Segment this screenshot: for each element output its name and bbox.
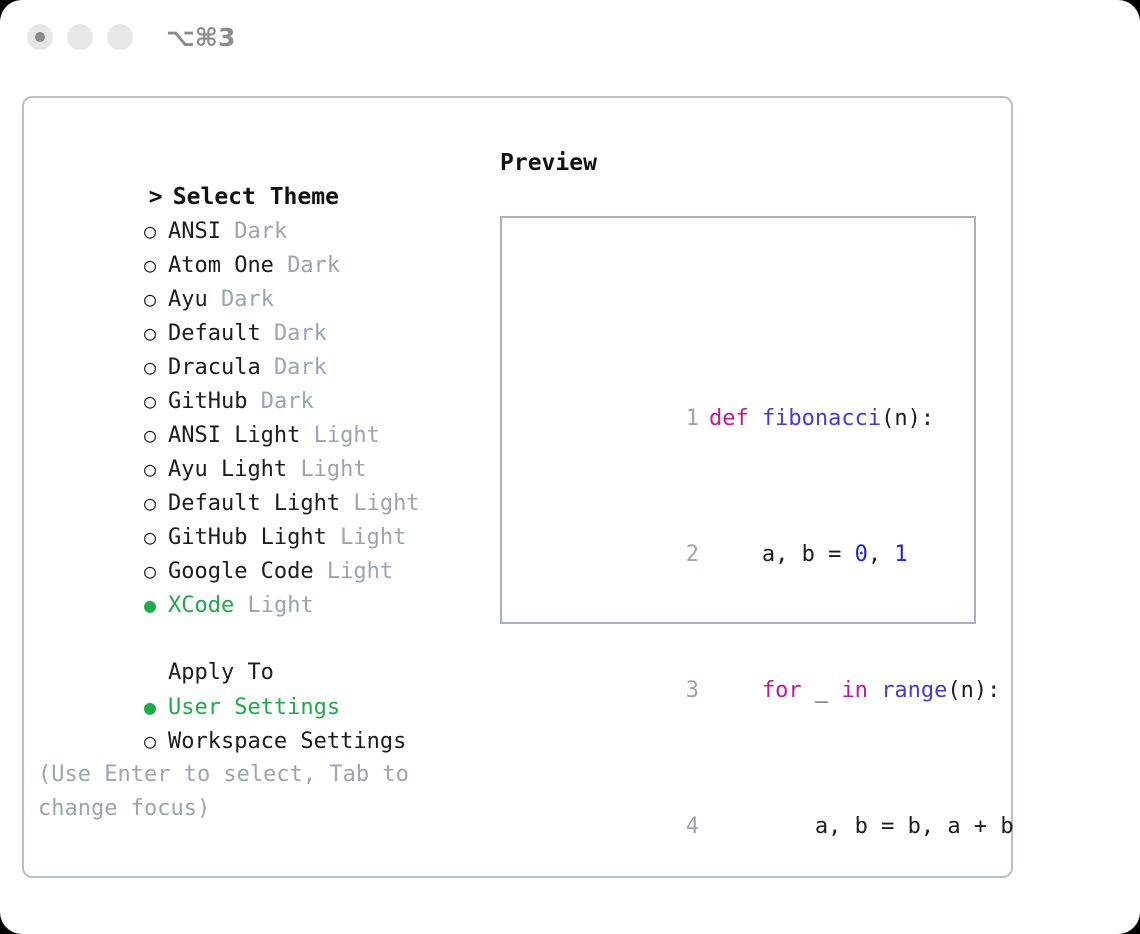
traffic-light-active-dot [35,32,45,42]
code-token: (n): [881,406,934,431]
apply-to-header-label: Apply To [168,660,274,685]
theme-name: Dracula [168,355,261,380]
code-token: fibonacci [762,406,881,431]
code-line: 4 a, b = b, a + b [514,776,1040,810]
keyboard-shortcut-label: ⌥⌘3 [166,22,235,54]
preview-box: 1def fibonacci(n): 2 a, b = 0, 1 3 for _… [500,216,976,624]
theme-name: Atom One [168,253,274,278]
radio-unselected-icon: ○ [144,486,168,520]
theme-category: Dark [221,287,274,312]
theme-category: Light [340,525,406,550]
code-line: 3 for _ in range(n): [514,640,1040,674]
code-token: , [868,542,895,567]
app-window: ⌥⌘3 >Select Theme ○ANSI Dark ○Atom One D… [0,0,1140,934]
radio-unselected-icon: ○ [144,316,168,350]
theme-list-header: >Select Theme [38,146,478,180]
theme-selector-panel: >Select Theme ○ANSI Dark ○Atom One Dark … [22,96,1013,878]
code-token: for [762,678,802,703]
theme-name: Default Light [168,491,340,516]
code-token [868,678,881,703]
theme-name: Ayu Light [168,457,287,482]
theme-name: XCode [168,593,234,618]
preview-code: 1def fibonacci(n): 2 a, b = 0, 1 3 for _… [514,266,1040,934]
radio-unselected-icon: ○ [144,248,168,282]
radio-unselected-icon: ○ [144,724,168,758]
code-token [709,678,762,703]
theme-category: Dark [261,389,314,414]
code-token: range [881,678,947,703]
line-number: 3 [673,674,699,708]
code-token: in [841,678,868,703]
code-token: (n): [947,678,1000,703]
theme-category: Light [327,559,393,584]
code-line: 5 return a [514,912,1040,934]
radio-selected-icon: ● [144,690,168,724]
theme-list-column: >Select Theme ○ANSI Dark ○Atom One Dark … [38,146,478,826]
radio-unselected-icon: ○ [144,384,168,418]
apply-to-option-label: Workspace Settings [168,729,406,754]
traffic-light-close[interactable] [27,24,53,50]
traffic-light-maximize[interactable] [107,24,133,50]
keyboard-hint-text: (Use Enter to select, Tab to change focu… [38,758,438,826]
theme-category: Dark [287,253,340,278]
theme-category: Light [300,457,366,482]
code-token: a, b = [709,542,855,567]
theme-category: Light [353,491,419,516]
theme-category: Dark [274,321,327,346]
code-token: def [709,406,762,431]
radio-unselected-icon: ○ [144,452,168,486]
prompt-caret-icon: > [149,180,173,214]
radio-unselected-icon: ○ [144,214,168,248]
code-token: 1 [894,542,907,567]
radio-unselected-icon: ○ [144,554,168,588]
theme-name: Google Code [168,559,314,584]
theme-category: Dark [274,355,327,380]
radio-unselected-icon: ○ [144,282,168,316]
radio-unselected-icon: ○ [144,418,168,452]
theme-category: Light [247,593,313,618]
radio-unselected-icon: ○ [144,350,168,384]
theme-name: Ayu [168,287,208,312]
preview-title: Preview [500,146,1000,180]
theme-name: GitHub Light [168,525,327,550]
code-line: 2 a, b = 0, 1 [514,504,1040,538]
radio-selected-icon: ● [144,588,168,622]
code-line: 1def fibonacci(n): [514,368,1040,402]
theme-name: Default [168,321,261,346]
line-number: 2 [673,538,699,572]
code-token: _ [802,678,842,703]
theme-list-header-label: Select Theme [173,184,339,210]
theme-category: Light [314,423,380,448]
apply-to-option-label: User Settings [168,695,340,720]
theme-name: GitHub [168,389,247,414]
traffic-light-minimize[interactable] [67,24,93,50]
theme-category: Dark [234,219,287,244]
title-bar: ⌥⌘3 [0,0,1140,78]
preview-column: Preview 1def fibonacci(n): 2 a, b = 0, 1… [500,146,1000,624]
theme-name: ANSI Light [168,423,300,448]
radio-unselected-icon: ○ [144,520,168,554]
line-number: 4 [673,810,699,844]
code-token: a, b = b, a + b [709,814,1014,839]
line-number: 1 [673,402,699,436]
code-token: 0 [855,542,868,567]
theme-name: ANSI [168,219,221,244]
